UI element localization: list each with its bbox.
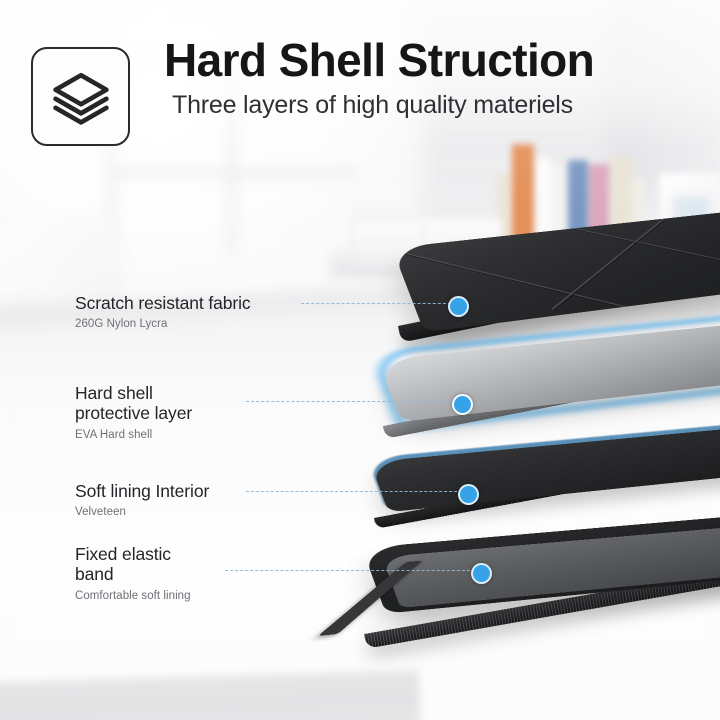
callout-group: Scratch resistant fabric 260G Nylon Lycr… — [0, 0, 720, 720]
connector-dot-4 — [471, 563, 492, 584]
callout-subtitle: EVA Hard shell — [75, 429, 192, 441]
leader-line-2 — [246, 401, 456, 402]
callout-title: Scratch resistant fabric — [75, 293, 251, 313]
connector-dot-3 — [458, 484, 479, 505]
callout-subtitle: Comfortable soft lining — [75, 590, 191, 602]
callout-subtitle: Velveteen — [75, 506, 209, 518]
callout-fixed-elastic-band: Fixed elastic band Comfortable soft lini… — [75, 544, 191, 602]
callout-soft-lining-interior: Soft lining Interior Velveteen — [75, 481, 209, 518]
leader-line-3 — [246, 491, 462, 492]
callout-subtitle: 260G Nylon Lycra — [75, 318, 251, 330]
callout-hard-shell-protective-layer: Hard shell protective layer EVA Hard she… — [75, 383, 192, 441]
connector-dot-1 — [448, 296, 469, 317]
callout-title: Hard shell protective layer — [75, 383, 192, 424]
connector-dot-2 — [452, 394, 473, 415]
leader-line-4 — [225, 570, 475, 571]
leader-line-1 — [301, 303, 451, 304]
callout-title: Soft lining Interior — [75, 481, 209, 501]
callout-title: Fixed elastic band — [75, 544, 191, 585]
infographic-canvas: Hard Shell Struction Three layers of hig… — [0, 0, 720, 720]
callout-scratch-resistant-fabric: Scratch resistant fabric 260G Nylon Lycr… — [75, 293, 251, 330]
